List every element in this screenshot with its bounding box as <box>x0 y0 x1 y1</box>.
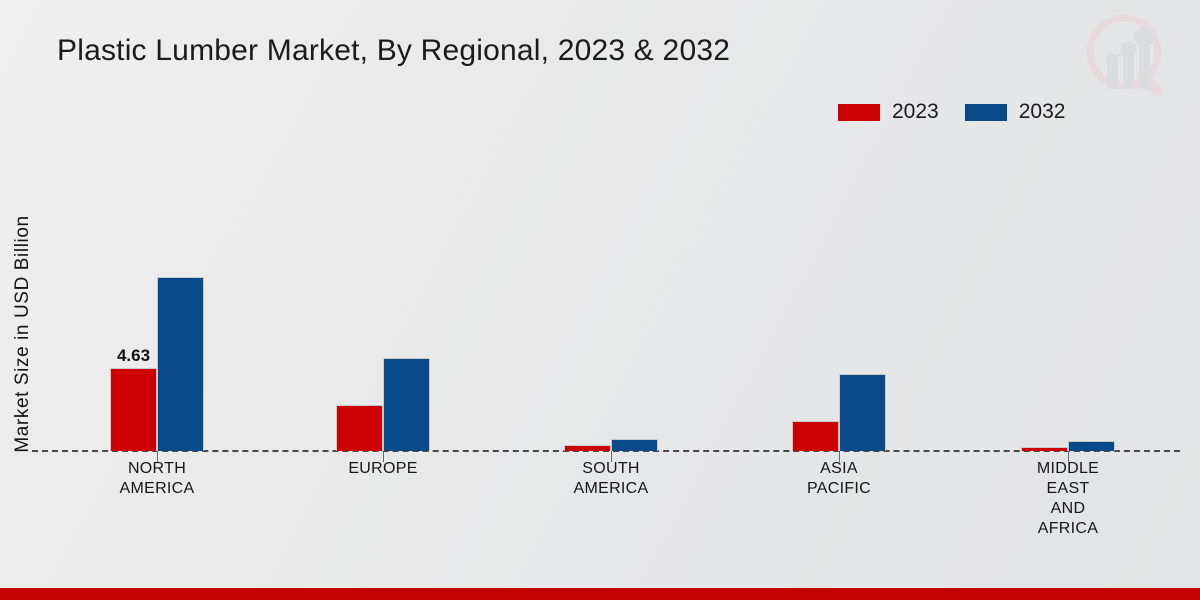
footer-accent-bar <box>0 588 1200 600</box>
x-label-line: NORTH <box>62 459 252 479</box>
x-label-line: MIDDLE <box>973 459 1163 479</box>
x-label-line: EAST <box>973 479 1163 499</box>
x-label-line: PACIFIC <box>744 479 934 499</box>
bar-2032-asia-pacific[interactable] <box>839 374 886 451</box>
bar-2023-asia-pacific[interactable] <box>792 421 839 451</box>
chart-canvas: Plastic Lumber Market, By Regional, 2023… <box>0 0 1200 600</box>
x-label-line: AMERICA <box>516 479 706 499</box>
x-label-europe: EUROPE <box>288 459 478 479</box>
bar-2023-middle-east-and-africa[interactable] <box>1021 447 1068 451</box>
x-label-line: ASIA <box>744 459 934 479</box>
bar-2032-north-america[interactable] <box>157 277 204 451</box>
bar-group-south-america <box>517 151 705 451</box>
x-label-middle-east-and-africa: MIDDLE EAST AND AFRICA <box>973 459 1163 539</box>
bar-2023-north-america[interactable]: 4.63 <box>110 368 157 451</box>
bar-group-europe <box>289 151 477 451</box>
x-label-south-america: SOUTH AMERICA <box>516 459 706 499</box>
x-label-line: AND <box>973 499 1163 519</box>
bar-2023-europe[interactable] <box>336 405 383 451</box>
bar-2032-middle-east-and-africa[interactable] <box>1068 441 1115 451</box>
bar-group-north-america: 4.63 <box>63 151 251 451</box>
bar-group-middle-east-and-africa <box>974 151 1162 451</box>
bar-group-asia-pacific <box>745 151 933 451</box>
bar-value-label: 4.63 <box>117 346 150 366</box>
x-label-north-america: NORTH AMERICA <box>62 459 252 499</box>
x-label-line: AFRICA <box>973 519 1163 539</box>
bar-2032-europe[interactable] <box>383 358 430 451</box>
y-axis-label: Market Size in USD Billion <box>12 164 34 504</box>
plot-area: Market Size in USD Billion 4.63 NORTH AM… <box>0 0 1200 600</box>
x-label-line: SOUTH <box>516 459 706 479</box>
bar-2032-south-america[interactable] <box>611 439 658 451</box>
x-label-asia-pacific: ASIA PACIFIC <box>744 459 934 499</box>
bar-2023-south-america[interactable] <box>564 445 611 451</box>
x-label-line: AMERICA <box>62 479 252 499</box>
x-label-line: EUROPE <box>288 459 478 479</box>
